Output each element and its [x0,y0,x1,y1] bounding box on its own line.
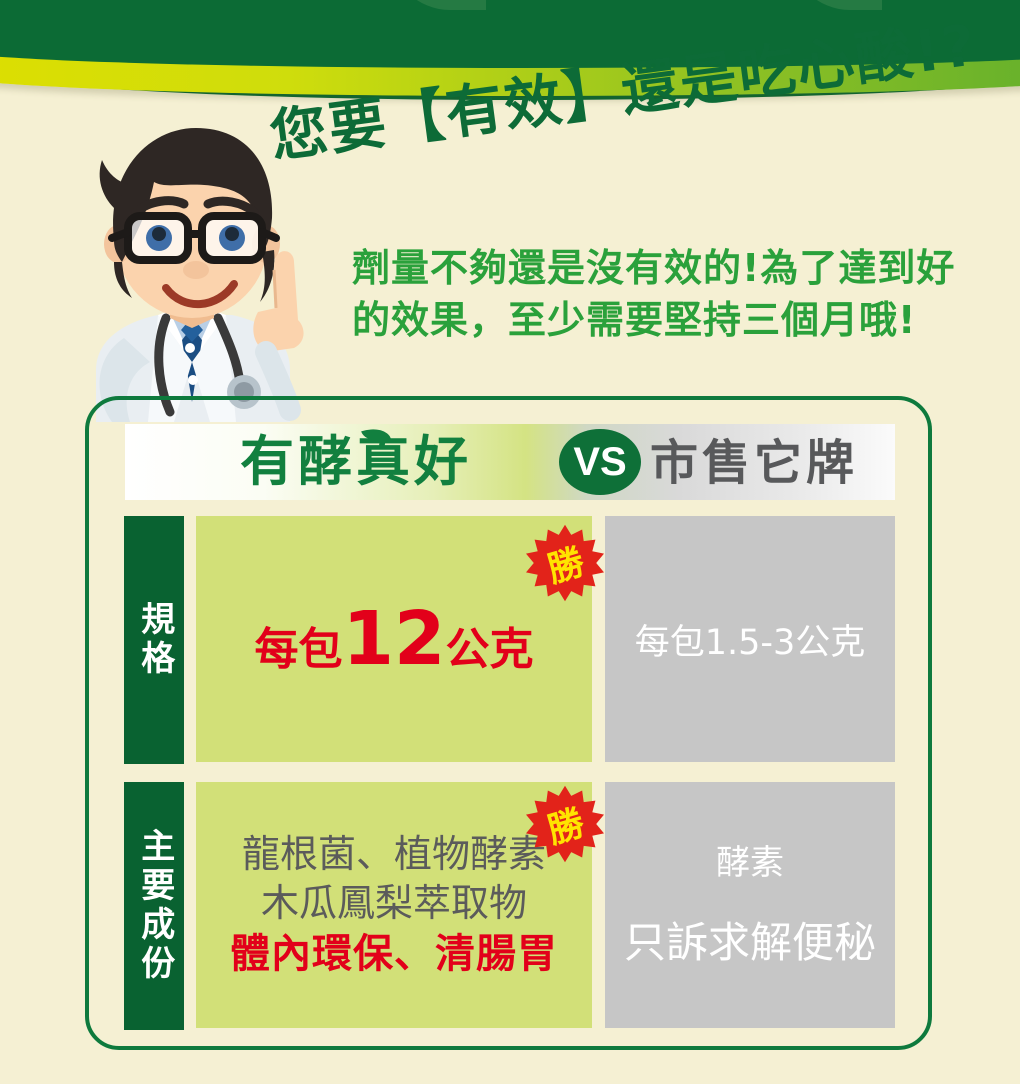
ingredients-theirs-line-2: 只訴求解便秘 [624,922,876,964]
header-ours-label: 有酵真好 [240,430,560,494]
doctor-illustration [62,112,322,422]
cell-theirs-spec: 每包1.5-3公克 [605,516,895,762]
row-label-spec-text: 規格 [135,601,172,679]
row-label-spec: 規格 [124,516,184,764]
ingredients-line-3-highlight: 體內環保、清腸胃 [230,928,558,980]
ingredients-ours-value: 龍根菌、植物酵素 木瓜鳳梨萃取物 體內環保、清腸胃 [230,830,558,981]
ingredients-theirs-value: 酵素 只訴求解便秘 [624,846,876,964]
header-theirs-label: 市售它牌 [650,432,910,494]
vs-badge: VS [559,429,641,495]
spec-ours-value: 每包12公克 [255,596,534,682]
subtitle-line-2: 的效果，至少需要堅持三個月哦! [352,295,992,347]
leaf-shape [790,0,882,10]
cell-theirs-ingredients: 酵素 只訴求解便秘 [605,782,895,1028]
row-label-ingredients-text: 主要成份 [135,828,172,984]
row-label-ingredients: 主要成份 [124,782,184,1030]
ingredients-line-2: 木瓜鳳梨萃取物 [230,879,558,928]
leaf-shape [390,0,486,10]
spec-number: 12 [343,596,446,682]
win-badge-ingredients: 勝 [526,785,604,863]
spec-prefix: 每包 [255,624,343,675]
ingredients-line-1: 龍根菌、植物酵素 [230,830,558,879]
spec-theirs-value: 每包1.5-3公克 [635,614,866,665]
win-badge-spec: 勝 [526,524,604,602]
ingredients-theirs-line-1: 酵素 [624,846,876,880]
subtitle: 劑量不夠還是沒有效的!為了達到好 的效果，至少需要堅持三個月哦! [352,243,992,346]
spec-suffix: 公克 [445,624,533,675]
poster-canvas: 您要【有效】還是吃心酸!? 劑量不夠還是沒有效的!為了達到好 的效果，至少需要堅… [0,0,1020,1084]
subtitle-line-1: 劑量不夠還是沒有效的!為了達到好 [352,243,992,295]
